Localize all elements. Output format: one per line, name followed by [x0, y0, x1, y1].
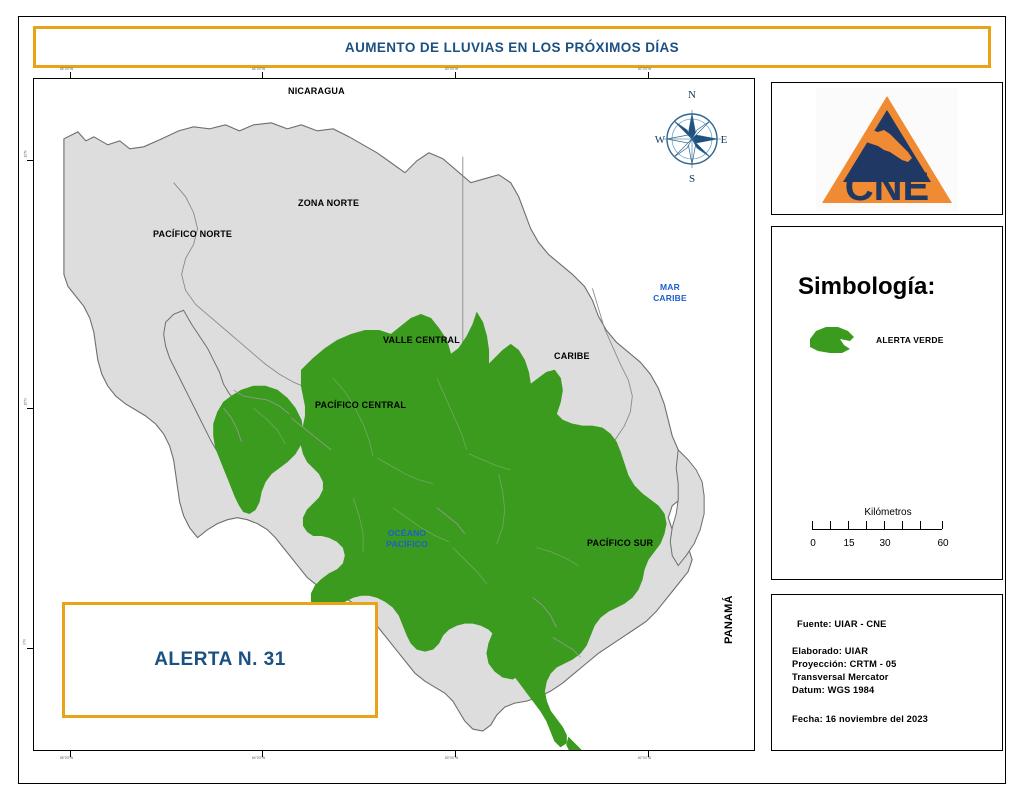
- graticule-label-top-4: 82°0'0"W: [638, 67, 651, 71]
- map-label-panama: PANAMÁ: [723, 595, 735, 644]
- graticule-label-top-2: 84°0'0"W: [252, 67, 265, 71]
- graticule-tick-bottom-4: [648, 751, 649, 757]
- compass-east-label: E: [721, 134, 728, 146]
- compass-rose: N S E W: [652, 86, 732, 186]
- graticule-tick-left-1: [27, 160, 33, 161]
- graticule-tick-left-2: [27, 408, 33, 409]
- scale-tick-5: [902, 521, 903, 529]
- mar-caribe-line2: CARIBE: [653, 293, 687, 303]
- oceano-pacifico-line1: OCÉANO: [388, 528, 427, 538]
- scale-tick-2: [848, 521, 849, 529]
- graticule-label-left-1: 11°N: [23, 151, 27, 158]
- legend-label-alerta-verde: ALERTA VERDE: [876, 335, 944, 345]
- compass-west-label: W: [655, 134, 666, 146]
- graticule-tick-top-1: [70, 72, 71, 78]
- scale-tick-0: [812, 521, 813, 529]
- scale-label-15: 15: [843, 538, 854, 549]
- scale-bar: Kilómetros 0 15 30 60: [786, 507, 990, 567]
- map-label-pacifico-norte: PACÍFICO NORTE: [153, 229, 232, 239]
- map-title-bar: AUMENTO DE LLUVIAS EN LOS PRÓXIMOS DÍAS: [33, 26, 991, 68]
- graticule-label-bottom-3: 83°0'0"W: [445, 756, 458, 760]
- graticule-tick-bottom-3: [455, 751, 456, 757]
- alert-number-text: ALERTA N. 31: [154, 649, 286, 671]
- logo-text: CNE: [845, 165, 929, 209]
- cne-logo: CNE: [816, 88, 958, 211]
- scale-label-30: 30: [879, 538, 890, 549]
- legend-title: Simbología:: [798, 273, 935, 301]
- map-label-oceano-pacifico: OCÉANO PACÍFICO: [372, 528, 442, 550]
- map-label-pacifico-sur: PACÍFICO SUR: [587, 538, 653, 548]
- legend-panel: Simbología: ALERTA VERDE Kilómetros 0 15…: [771, 226, 1003, 580]
- map-page: AUMENTO DE LLUVIAS EN LOS PRÓXIMOS DÍAS: [0, 0, 1024, 801]
- compass-north-label: N: [688, 89, 696, 101]
- legend-swatch-alerta-verde: [804, 323, 860, 357]
- graticule-label-left-3: 9°N: [23, 639, 27, 644]
- mar-caribe-line1: MAR: [660, 282, 680, 292]
- graticule-tick-top-3: [455, 72, 456, 78]
- compass-south-label: S: [689, 173, 695, 185]
- scale-tick-4: [884, 521, 885, 529]
- alert-green-southeast-strip: [567, 737, 593, 750]
- map-label-zona-norte: ZONA NORTE: [298, 198, 359, 208]
- oceano-pacifico-line2: PACÍFICO: [386, 539, 428, 549]
- logo-panel: CNE: [771, 82, 1003, 215]
- scale-tick-1: [830, 521, 831, 529]
- graticule-tick-top-2: [262, 72, 263, 78]
- map-label-nicaragua: NICARAGUA: [288, 86, 345, 96]
- scale-tick-3: [866, 521, 867, 529]
- meta-elaborado: Elaborado: UIAR: [792, 646, 868, 656]
- scale-tick-6: [920, 521, 921, 529]
- metadata-panel: Fuente: UIAR - CNE Elaborado: UIAR Proye…: [771, 594, 1003, 751]
- graticule-tick-top-4: [648, 72, 649, 78]
- graticule-tick-bottom-1: [70, 751, 71, 757]
- page-title: AUMENTO DE LLUVIAS EN LOS PRÓXIMOS DÍAS: [345, 40, 679, 55]
- graticule-label-top-1: 85°0'0"W: [60, 67, 73, 71]
- meta-fecha: Fecha: 16 noviembre del 2023: [792, 714, 928, 724]
- meta-mercator: Transversal Mercator: [792, 672, 889, 682]
- map-label-caribe: CARIBE: [554, 351, 590, 361]
- scale-bar-axis: [812, 529, 942, 530]
- scale-tick-7: [942, 521, 943, 529]
- graticule-label-bottom-4: 82°0'0"W: [638, 756, 651, 760]
- scale-label-0: 0: [810, 538, 816, 549]
- cne-logo-graphic: CNE: [816, 88, 958, 211]
- graticule-tick-bottom-2: [262, 751, 263, 757]
- graticule-label-top-3: 83°0'0"W: [445, 67, 458, 71]
- alert-number-box: ALERTA N. 31: [62, 602, 378, 718]
- map-label-mar-caribe: MAR CARIBE: [638, 282, 702, 304]
- graticule-label-bottom-1: 85°0'0"W: [60, 756, 73, 760]
- scale-bar-title: Kilómetros: [786, 507, 990, 518]
- map-label-pacifico-central: PACÍFICO CENTRAL: [315, 400, 406, 410]
- meta-fuente: Fuente: UIAR - CNE: [797, 619, 886, 629]
- graticule-label-bottom-2: 84°0'0"W: [252, 756, 265, 760]
- scale-label-60: 60: [937, 538, 948, 549]
- meta-datum: Datum: WGS 1984: [792, 685, 874, 695]
- map-label-valle-central: VALLE CENTRAL: [383, 335, 460, 345]
- meta-proyeccion: Proyección: CRTM - 05: [792, 659, 896, 669]
- graticule-tick-left-3: [27, 648, 33, 649]
- graticule-label-left-2: 10°N: [24, 398, 28, 405]
